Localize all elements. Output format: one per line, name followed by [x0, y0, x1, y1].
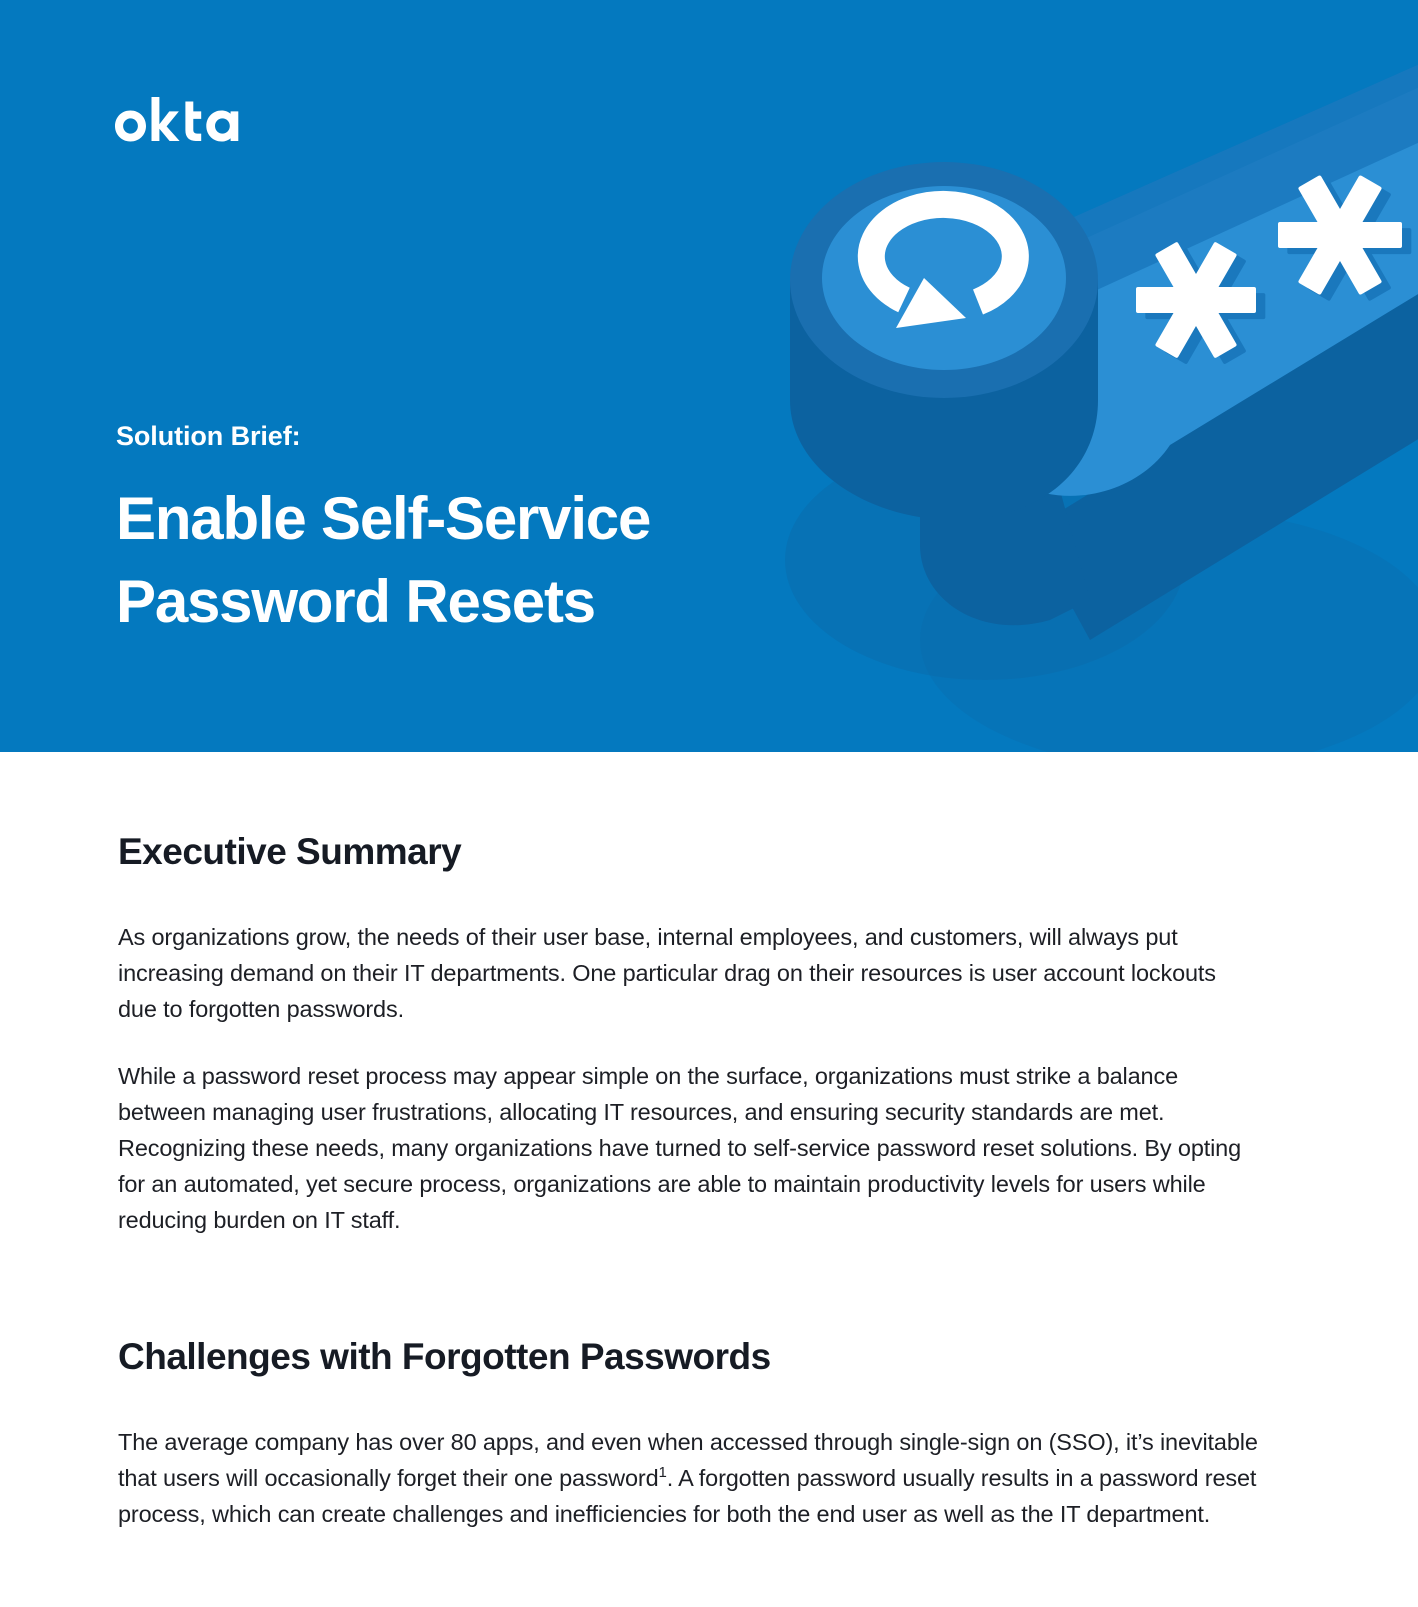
password-field-pill-top	[966, 0, 1418, 496]
section-executive-summary: Executive Summary As organizations grow,…	[118, 830, 1300, 1239]
challenges-paragraph-1: The average company has over 80 apps, an…	[118, 1425, 1258, 1533]
document-body: Executive Summary As organizations grow,…	[0, 752, 1418, 1533]
reset-arrow-icon	[871, 204, 1015, 328]
heading-executive-summary: Executive Summary	[118, 830, 1300, 874]
hero-eyebrow: Solution Brief:	[116, 420, 756, 452]
page-title-line-1: Enable Self-Service	[116, 485, 650, 552]
okta-logo[interactable]	[114, 96, 244, 150]
password-field-pill-side	[920, 120, 1418, 640]
cylinder-shadow	[785, 440, 1185, 680]
pill-rim	[1040, 0, 1418, 300]
hero-banner: Solution Brief: Enable Self-Service Pass…	[0, 0, 1418, 752]
section-challenges-with-forgotten-passwords: Challenges with Forgotten Passwords The …	[118, 1335, 1300, 1533]
reset-button-rim	[790, 162, 1098, 398]
page-title: Enable Self-Service Password Resets	[116, 478, 756, 644]
reset-button-top	[822, 186, 1066, 370]
hero-text-block: Solution Brief: Enable Self-Service Pass…	[116, 420, 756, 644]
executive-summary-paragraph-1: As organizations grow, the needs of thei…	[118, 920, 1258, 1028]
reset-button-side	[790, 280, 1098, 520]
asterisk-icon-1	[1115, 216, 1286, 390]
heading-challenges-with-forgotten-passwords: Challenges with Forgotten Passwords	[118, 1335, 1300, 1379]
solution-brief-page: Solution Brief: Enable Self-Service Pass…	[0, 0, 1418, 1607]
footnote-marker[interactable]: 1	[659, 1465, 667, 1482]
asterisk-icon-2	[1257, 149, 1418, 328]
page-title-line-2: Password Resets	[116, 568, 595, 635]
executive-summary-paragraph-2: While a password reset process may appea…	[118, 1059, 1258, 1239]
